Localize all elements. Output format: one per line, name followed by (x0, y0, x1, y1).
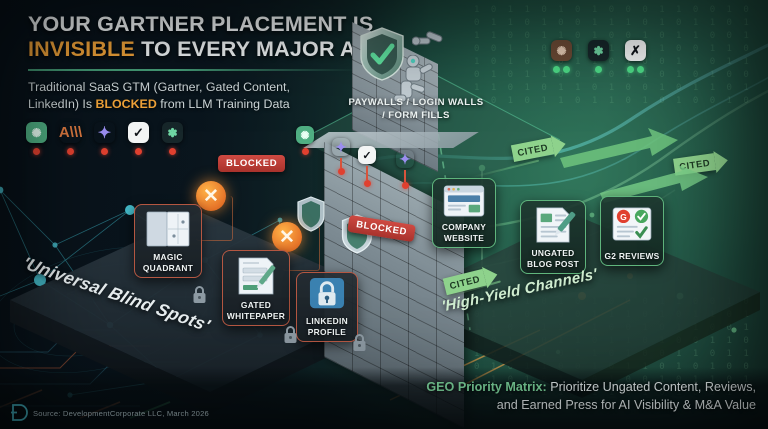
padlock-icon-platform-1 (192, 286, 207, 304)
grok-icon: ✓ (358, 146, 376, 164)
robot-arm-icon (412, 28, 452, 54)
padlock-icon-platform-2 (283, 326, 298, 344)
status-dot-blocked (67, 148, 74, 155)
status-dot-blocked (33, 148, 40, 155)
card-label-gated-whitepaper: GATED WHITEPAPER (227, 300, 285, 321)
g2-review-icon: G (601, 197, 663, 251)
gemini-sparkle-icon: ✦ (332, 138, 350, 156)
status-dots-cited (553, 66, 570, 73)
infographic-canvas: 1 0 1 1 0 1 0 1 0 0 0 1 1 0 0 1 0 0 1 1 … (0, 0, 768, 429)
headline-line-1: YOUR GARTNER PLACEMENT IS (28, 12, 373, 36)
gemini-sparkle-icon: ✦ (396, 150, 414, 168)
headline-highlight: INVISIBLE (28, 37, 135, 61)
card-ungated-blog-post[interactable]: UNGATED BLOG POST (520, 200, 586, 274)
card-magic-quadrant[interactable]: MAGIC QUADRANT (134, 204, 202, 278)
status-dot-blocked (135, 148, 142, 155)
status-dot-blocked (169, 148, 176, 155)
subtitle-line-2-pre: LinkedIn) Is (28, 97, 96, 111)
ai-model-gemini-mid-2[interactable]: ✦ (396, 150, 414, 189)
subtitle-highlight: BLOCKED (96, 97, 157, 111)
ai-model-gemini[interactable]: ✦ (94, 122, 115, 155)
gemini-sparkle-icon: ✦ (94, 122, 115, 143)
headline-line-2: TO EVERY MAJOR AI (135, 37, 362, 61)
ai-model-openai-cited[interactable]: ✺ (551, 40, 572, 73)
status-dot-cited (627, 66, 634, 73)
ai-model-gemini-mid[interactable]: ✦ (332, 138, 350, 175)
blocked-x-badge-2: ✕ (272, 222, 302, 252)
paywalls-label-line1: PAYWALLS / LOGIN WALLS (348, 97, 483, 108)
headline: YOUR GARTNER PLACEMENT IS INVISIBLE TO E… (28, 12, 388, 62)
subtitle: Traditional SaaS GTM (Gartner, Gated Con… (28, 79, 388, 114)
document-pencil-icon (521, 201, 585, 248)
ai-model-grok-mid[interactable]: ✓ (358, 146, 376, 187)
status-dot-cited (637, 66, 644, 73)
footer-caption-line1: Prioritize Ungated Content, Reviews, (547, 380, 756, 394)
card-g2-reviews[interactable]: G G2 REVIEWS (600, 196, 664, 266)
card-label-company-website: COMPANY WEBSITE (442, 222, 486, 243)
ai-models-blocked-row: ✺ A\\\ ✦ ✓ ✽ (26, 122, 183, 155)
status-dot-blocked (364, 180, 371, 187)
ai-model-openai[interactable]: ✺ (26, 122, 47, 155)
status-dots-cited (595, 66, 602, 73)
status-dot-blocked (338, 168, 345, 175)
ai-model-meta-cited[interactable]: ✽ (588, 40, 609, 73)
status-dot-cited (595, 66, 602, 73)
svg-text:G: G (620, 212, 627, 222)
card-company-website[interactable]: COMPANY WEBSITE (432, 178, 496, 248)
connector-stem (340, 158, 342, 168)
report-document-icon (135, 205, 201, 252)
ai-models-mid-row: ✺ ✦ ✓ ✦ (296, 126, 426, 186)
subtitle-line-2-post: from LLM Training Data (157, 97, 290, 111)
meta-ai-icon: ✽ (162, 122, 183, 143)
grok-icon: ✓ (128, 122, 149, 143)
card-label-ungated-blog-post: UNGATED BLOG POST (527, 248, 579, 269)
padlock-icon (297, 273, 357, 316)
footer-caption-emphasis: GEO Priority Matrix: (426, 380, 546, 394)
form-document-icon (223, 251, 289, 300)
header-divider (28, 69, 358, 71)
card-label-linkedin-profile: LINKEDIN PROFILE (306, 316, 348, 337)
grok-icon: ✗ (625, 40, 646, 61)
ai-model-grok-cited[interactable]: ✗ (625, 40, 646, 73)
padlock-icon-platform-3 (352, 334, 367, 352)
openai-icon: ✺ (26, 122, 47, 143)
ai-model-anthropic[interactable]: A\\\ (60, 122, 81, 155)
footer-caption-line2: and Earned Press for AI Visibility & M&A… (497, 398, 756, 412)
card-linkedin-profile[interactable]: LINKEDIN PROFILE (296, 272, 358, 342)
ai-models-cited-row: ✺ ✽ ✗ (551, 40, 646, 73)
browser-window-icon (433, 179, 495, 222)
openai-icon: ✺ (296, 126, 314, 144)
development-corporate-logo (10, 403, 29, 422)
card-gated-whitepaper[interactable]: GATED WHITEPAPER (222, 250, 290, 326)
paywalls-label-line2: / FORM FILLS (382, 110, 450, 121)
paywalls-label: PAYWALLS / LOGIN WALLS / FORM FILLS (348, 96, 484, 122)
subtitle-line-1: Traditional SaaS GTM (Gartner, Gated Con… (28, 80, 290, 94)
ai-model-meta[interactable]: ✽ (162, 122, 183, 155)
anthropic-claude-icon: A\\\ (60, 122, 81, 143)
connector-stem (366, 166, 368, 180)
ai-model-grok[interactable]: ✓ (128, 122, 149, 155)
blocked-tag-1: BLOCKED (218, 155, 285, 172)
card-label-magic-quadrant: MAGIC QUADRANT (143, 252, 193, 273)
ai-model-openai-mid[interactable]: ✺ (296, 126, 314, 155)
status-dot-cited (563, 66, 570, 73)
openai-icon: ✺ (551, 40, 572, 61)
status-dot-blocked (302, 148, 309, 155)
source-attribution: Source: DevelopmentCorporate LLC, March … (33, 409, 209, 418)
footer-caption: GEO Priority Matrix: Prioritize Ungated … (330, 378, 756, 414)
connector-stem (404, 170, 406, 182)
status-dot-cited (553, 66, 560, 73)
card-label-g2-reviews: G2 REVIEWS (604, 251, 659, 262)
status-dots-cited (627, 66, 644, 73)
meta-ai-icon: ✽ (588, 40, 609, 61)
header-block: YOUR GARTNER PLACEMENT IS INVISIBLE TO E… (28, 12, 388, 114)
status-dot-blocked (402, 182, 409, 189)
status-dot-blocked (101, 148, 108, 155)
green-flow-arrow-1 (560, 128, 680, 170)
